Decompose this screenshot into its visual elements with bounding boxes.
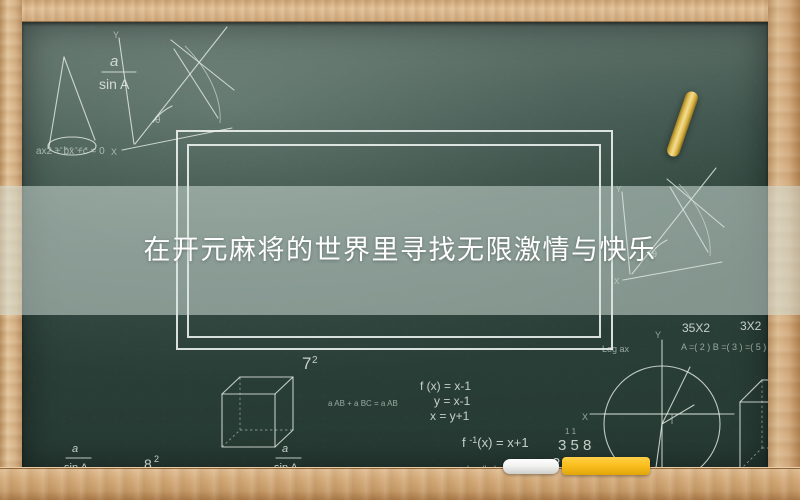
svg-text:f (x) = x-1: f (x) = x-1: [420, 379, 471, 393]
mult-35x2: 35X2: [682, 321, 710, 335]
cube-left: [222, 377, 293, 447]
svg-text:1 1: 1 1: [565, 427, 577, 436]
vector-identity: a AB + a BC = a AB: [328, 399, 398, 408]
screenshot-canvas: a sin A ax2 + bx +c = 0 Y X θ: [0, 0, 800, 500]
mult-3x2: 3X2: [740, 319, 762, 333]
quadratic-formula: ax2 + bx +c = 0: [36, 146, 105, 157]
svg-text:X: X: [582, 412, 588, 422]
svg-text:2: 2: [154, 454, 159, 464]
inverse-function: f -1(x) = x+1: [462, 435, 529, 450]
svg-text:3 5 8: 3 5 8: [558, 437, 591, 454]
svg-text:θ: θ: [155, 115, 161, 126]
svg-text:7: 7: [302, 354, 311, 373]
svg-text:Y: Y: [113, 30, 119, 40]
function-definitions: f (x) = x-1 y = x-1 x = y+1: [420, 379, 471, 423]
svg-text:2: 2: [312, 355, 318, 366]
law-of-sines-top: a sin A: [99, 53, 136, 92]
svg-text:a: a: [110, 53, 118, 70]
svg-text:Y: Y: [655, 330, 661, 340]
headline-overlay-band: 在开元麻将的世界里寻找无限激情与快乐: [0, 186, 800, 315]
svg-text:x = y+1: x = y+1: [430, 409, 470, 423]
headline-text: 在开元麻将的世界里寻找无限激情与快乐: [144, 237, 657, 264]
cone-drawing: [48, 57, 96, 155]
chalk-tray-ledge: [0, 468, 800, 500]
svg-text:y = x-1: y = x-1: [434, 394, 471, 408]
svg-text:a: a: [72, 443, 78, 455]
frame-top-rail: [0, 0, 800, 22]
bracket-row: A =( 2 ) B =( 3 ) =( 5 ): [681, 342, 766, 352]
seven-squared: 7 2: [302, 354, 318, 373]
cube-right: [740, 380, 768, 468]
tray-white-chalk: [503, 459, 559, 474]
tray-yellow-eraser: [562, 457, 650, 475]
svg-text:X: X: [111, 147, 117, 157]
svg-text:a: a: [282, 443, 288, 455]
